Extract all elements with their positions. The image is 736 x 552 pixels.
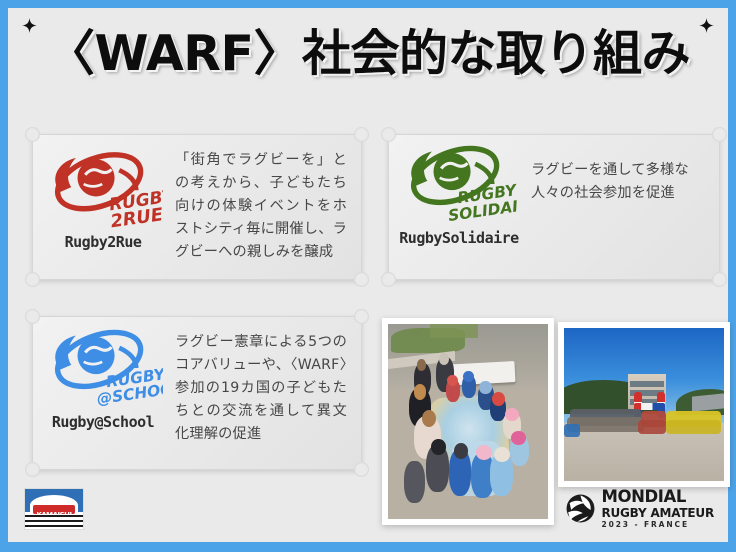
card-description: ラグビーを通して多様な人々の社会参加を促進 xyxy=(529,135,719,215)
kamaishi-badge: KAMAISHI xyxy=(24,488,84,530)
mondial-line2: RUGBY AMATEUR xyxy=(601,507,714,519)
slide-root: 〈WARF〉社会的な取り組み xyxy=(0,0,736,552)
card-rugbysolidaire: RUGBY SOLIDAIRE RugbySolidaire ラグビーを通して多… xyxy=(388,134,720,280)
mondial-line1: MONDIAL xyxy=(601,489,714,506)
logo-column: RUGBY @SCHOOL Rugby@School xyxy=(33,317,173,431)
slide-panel: 〈WARF〉社会的な取り組み xyxy=(8,8,728,542)
logo-column: RUGBY 2RUE Rugby2Rue xyxy=(33,135,173,251)
card-title: Rugby@School xyxy=(52,413,154,431)
card-rugbyatschool: RUGBY @SCHOOL Rugby@School ラグビー憲章による5つのコ… xyxy=(32,316,362,470)
kamaishi-badge-text: KAMAISHI xyxy=(34,505,73,513)
mondial-rugby-amateur-logo: MONDIAL RUGBY AMATEUR 2023 - FRANCE xyxy=(565,489,714,528)
rugbysolidaire-logo: RUGBY SOLIDAIRE xyxy=(399,143,519,228)
rugbyatschool-logo: RUGBY @SCHOOL xyxy=(43,327,163,412)
card-description: ラグビー憲章による5つのコアバリューや、〈WARF〉参加の19カ国の子どもたちと… xyxy=(173,317,361,456)
card-description: 「街角でラグビーを」との考えから、子どもたち向けの体験イベントをホストシティ毎に… xyxy=(173,135,361,274)
photo-group xyxy=(558,322,730,487)
card-title: RugbySolidaire xyxy=(399,229,518,247)
page-title: 〈WARF〉社会的な取り組み xyxy=(8,14,728,85)
slide-header: 〈WARF〉社会的な取り組み xyxy=(8,8,728,100)
logo-column: RUGBY SOLIDAIRE RugbySolidaire xyxy=(389,135,529,247)
card-rugby2rue: RUGBY 2RUE Rugby2Rue 「街角でラグビーを」との考えから、子ど… xyxy=(32,134,362,280)
mondial-globe-icon xyxy=(565,493,596,524)
card-title: Rugby2Rue xyxy=(65,233,142,251)
mondial-line3: 2023 - FRANCE xyxy=(601,521,714,529)
rugby2rue-logo: RUGBY 2RUE xyxy=(43,147,163,232)
photo-workshop xyxy=(382,318,554,525)
